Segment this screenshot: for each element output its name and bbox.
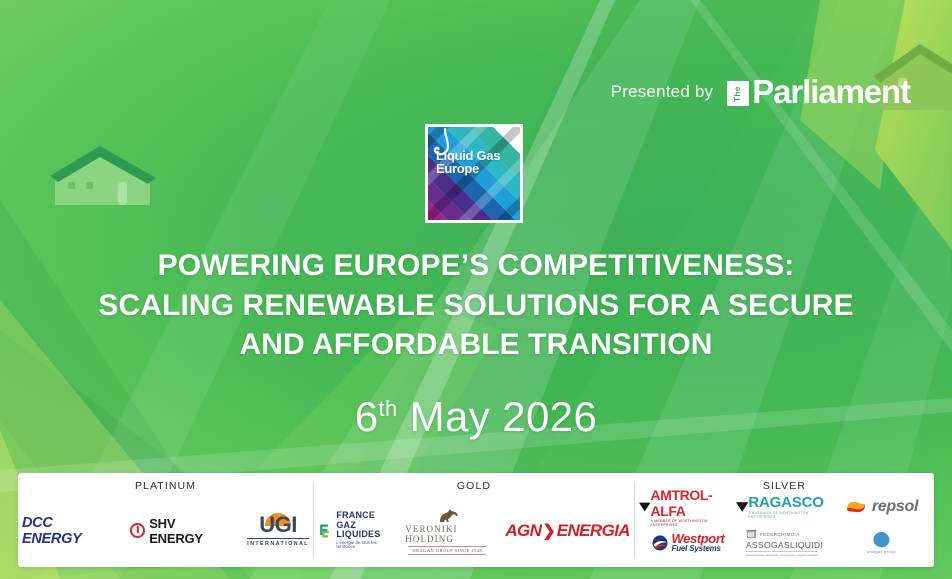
silver-logo-grid: AMTROL-ALFA A MEMBER OF WORTHINGTON ENTE… — [639, 480, 930, 563]
sponsor-logo-shv-energy[interactable]: SHV ENERGY — [130, 516, 231, 546]
platinum-logo-row: DCC ENERGY SHV ENERGY UGI INTERNATIONAL — [22, 498, 309, 563]
silver-logo-row-1: AMTROL-ALFA A MEMBER OF WORTHINGTON ENTE… — [639, 490, 930, 523]
veroniki-wordmark: VERONIKI HOLDING — [405, 524, 489, 544]
ragasco-subtitle: A BUSINESS OF WORTHINGTON ENTERPRISES — [748, 511, 833, 519]
tier-label-silver: SILVER — [635, 480, 934, 492]
horse-icon — [434, 507, 460, 523]
sponsor-logo-dcc-energy[interactable]: DCC ENERGY — [22, 515, 114, 547]
dcc-energy-wordmark: DCC ENERGY — [22, 515, 114, 547]
amagas-logo: amagas group — [867, 531, 896, 554]
event-banner: Presented by The Parliament — [0, 0, 952, 579]
silver-logo-row-2: Westport Fuel Systems — [639, 526, 930, 559]
ragasco-text: RAGASCO A BUSINESS OF WORTHINGTON ENTERP… — [748, 494, 833, 519]
sponsor-logo-amagas-group[interactable]: amagas group — [833, 531, 930, 554]
sponsor-tier-platinum: PLATINUM DCC ENERGY SHV ENERGY UGI INTER… — [18, 473, 313, 567]
sponsor-logo-federchimica-assogasliquidi[interactable]: FEDERCHIMICA ASSOGASLIQUIDI Associazione… — [736, 529, 833, 557]
sponsor-logo-veroniki-holding[interactable]: VERONIKI HOLDING DRAGAN GROUP SINCE 1948 — [405, 507, 489, 555]
tier-label-platinum: PLATINUM — [135, 480, 196, 492]
westport-subtitle: Fuel Systems — [672, 545, 725, 553]
crest-icon — [746, 529, 757, 540]
sponsor-logo-france-gaz-liquides[interactable]: FRANCE GAZ LIQUIDES L’énergie de tous le… — [318, 511, 389, 550]
triangle-icon — [639, 501, 651, 513]
sponsor-bar: PLATINUM DCC ENERGY SHV ENERGY UGI INTER… — [18, 473, 934, 567]
fgl-line-2: GAZ LIQUIDES — [336, 521, 389, 540]
repsol-wordmark: repsol — [872, 498, 918, 516]
parliament-the-badge: The — [727, 81, 749, 106]
liquid-gas-europe-logo: Liquid Gas Europe — [425, 124, 523, 223]
agn-wordmark: AGN — [505, 521, 541, 541]
veroniki-subtitle: DRAGAN GROUP SINCE 1948 — [408, 546, 486, 555]
title-line-3: AND AFFORDABLE TRANSITION — [44, 325, 908, 365]
parliament-logo: The Parliament — [727, 78, 910, 106]
logo-inner: Liquid Gas Europe — [428, 127, 520, 220]
logo-line-2: Europe — [436, 162, 500, 175]
assogasliquidi-wordmark: ASSOGASLIQUIDI — [746, 540, 823, 550]
agn-separator-icon: ❯ — [542, 521, 555, 541]
flame-icon — [428, 127, 454, 157]
fgl-tagline: L’énergie de tous les territoires — [336, 541, 389, 550]
tier-label-gold: GOLD — [457, 480, 491, 492]
house-left-icon — [50, 146, 156, 205]
parliament-the-text: The — [734, 86, 742, 102]
page-title: POWERING EUROPE’S COMPETITIVENESS: SCALI… — [0, 246, 952, 365]
date-day: 6 — [355, 393, 379, 440]
ugi-subtitle: INTERNATIONAL — [247, 538, 309, 547]
sponsor-logo-ugi-international[interactable]: UGI INTERNATIONAL — [247, 514, 309, 547]
assogasliquidi-subtitle: Associazione nazionale commercio e logis… — [746, 551, 818, 557]
sponsor-logo-ragasco[interactable]: RAGASCO A BUSINESS OF WORTHINGTON ENTERP… — [736, 494, 833, 519]
presented-by-block: Presented by The Parliament — [611, 78, 910, 106]
presented-by-label: Presented by — [611, 82, 714, 102]
parliament-wordmark: Parliament — [752, 78, 910, 106]
federchimica-name: FEDERCHIMICA — [760, 532, 800, 537]
sponsor-logo-repsol[interactable]: repsol — [833, 498, 930, 516]
france-gaz-liquides-text: FRANCE GAZ LIQUIDES L’énergie de tous le… — [336, 511, 389, 550]
ugi-wordmark: UGI — [259, 514, 297, 536]
federchimica-text: FEDERCHIMICA ASSOGASLIQUIDI Associazione… — [746, 529, 823, 557]
g-mark-icon — [872, 531, 891, 549]
sponsor-tier-gold: GOLD FRANCE GAZ LIQUIDES L’énergie de to… — [314, 473, 634, 567]
shv-energy-wordmark: SHV ENERGY — [149, 516, 231, 546]
power-icon — [130, 523, 145, 538]
westport-text: Westport Fuel Systems — [672, 532, 725, 553]
france-gaz-liquides-mark-icon — [318, 521, 332, 541]
date-rest: May 2026 — [398, 393, 598, 440]
federchimica-top: FEDERCHIMICA — [746, 529, 800, 540]
sponsor-logo-agn-energia[interactable]: AGN ❯ ENERGIA — [505, 521, 630, 541]
energia-wordmark: ENERGIA — [557, 521, 630, 541]
ragasco-wordmark: RAGASCO — [748, 494, 833, 511]
amtrol-text: AMTROL-ALFA A MEMBER OF WORTHINGTON ENTE… — [651, 487, 737, 527]
gold-logo-row: FRANCE GAZ LIQUIDES L’énergie de tous le… — [318, 498, 630, 563]
title-line-2: SCALING RENEWABLE SOLUTIONS FOR A SECURE — [44, 286, 908, 326]
title-line-1: POWERING EUROPE’S COMPETITIVENESS: — [44, 246, 908, 286]
sponsor-logo-amtrol-alfa[interactable]: AMTROL-ALFA A MEMBER OF WORTHINGTON ENTE… — [639, 487, 736, 527]
sponsor-tier-silver: SILVER AMTROL-ALFA A MEMBER OF WORTHINGT… — [635, 473, 934, 567]
event-date: 6th May 2026 — [0, 393, 952, 441]
date-ordinal: th — [379, 396, 398, 421]
amagas-wordmark: amagas group — [867, 550, 896, 554]
repsol-mark-icon — [845, 499, 867, 515]
sponsor-logo-westport-fuel-systems[interactable]: Westport Fuel Systems — [639, 532, 736, 553]
swoosh-icon — [651, 535, 669, 551]
triangle-icon — [736, 501, 748, 513]
